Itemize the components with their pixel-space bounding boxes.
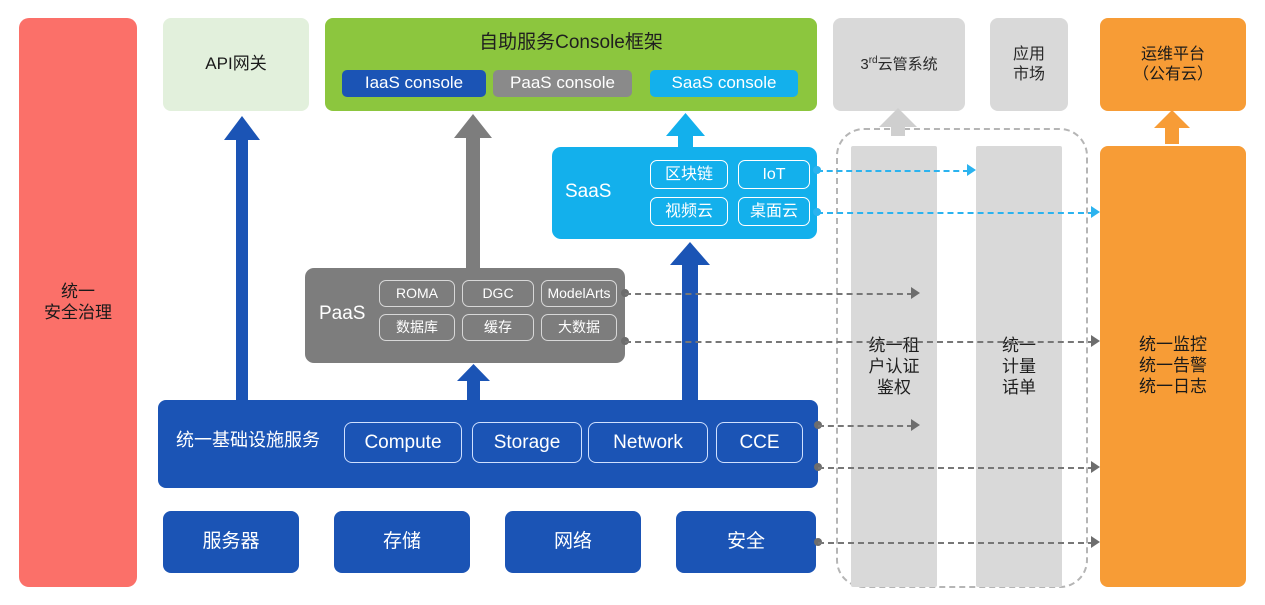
dashed-line-hardware-to-ops xyxy=(818,542,1094,544)
saas-pill-blockchain[interactable]: 区块链 xyxy=(650,160,728,189)
infra-pill-network[interactable]: Network xyxy=(588,422,708,463)
hardware-label-network: 网络 xyxy=(554,530,592,553)
hardware-label-server: 服务器 xyxy=(202,530,259,553)
security-governance-column: 统一 安全治理 xyxy=(19,18,137,587)
arrowhead-infra-to-ops xyxy=(1091,461,1100,473)
unified-tenant-auth-label: 统一租 户认证 鉴权 xyxy=(869,335,920,399)
arrow-infra-to-api-gateway xyxy=(224,116,260,401)
paas-pill-roma[interactable]: ROMA xyxy=(379,280,455,307)
arrow-saas-to-console xyxy=(666,113,705,149)
dashed-line-infra-to-ops xyxy=(818,467,1094,469)
api-gateway-box: API网关 xyxy=(163,18,309,111)
saas-pill-desktop-cloud[interactable]: 桌面云 xyxy=(738,197,810,226)
hardware-box-security: 安全 xyxy=(676,511,816,573)
dashed-line-infra-to-auth xyxy=(818,425,913,427)
arrowhead-paas-to-ops xyxy=(1091,335,1100,347)
arrowhead-saas-to-metering xyxy=(967,164,976,176)
third-party-superscript: rd xyxy=(869,55,878,66)
saas-box: SaaS 区块链 IoT 视频云 桌面云 xyxy=(552,147,817,239)
dashed-line-saas-to-ops xyxy=(817,212,1094,214)
paas-console-pill[interactable]: PaaS console xyxy=(493,70,632,97)
hardware-box-storage: 存储 xyxy=(334,511,470,573)
hardware-label-security: 安全 xyxy=(727,530,765,553)
dashed-line-paas-to-auth xyxy=(625,293,913,295)
arrowhead-saas-to-ops xyxy=(1091,206,1100,218)
dashed-line-paas-to-ops xyxy=(625,341,1094,343)
arrow-ops-column-to-ops-top xyxy=(1154,110,1190,144)
saas-pill-video-cloud[interactable]: 视频云 xyxy=(650,197,728,226)
arrow-infra-to-paas xyxy=(457,364,490,402)
console-framework-title: 自助服务Console框架 xyxy=(325,31,817,54)
saas-console-pill[interactable]: SaaS console xyxy=(650,70,798,97)
third-party-cloud-mgmt-box: 3rd云管系统 xyxy=(833,18,965,111)
arrow-infra-to-saas xyxy=(670,242,710,402)
paas-pill-database[interactable]: 数据库 xyxy=(379,314,455,341)
ops-platform-top-box: 运维平台 （公有云） xyxy=(1100,18,1246,111)
ops-platform-column-label: 统一监控 统一告警 统一日志 xyxy=(1139,335,1207,397)
hardware-box-network: 网络 xyxy=(505,511,641,573)
hardware-label-storage: 存储 xyxy=(383,530,421,553)
paas-label: PaaS xyxy=(319,302,365,325)
infra-pill-storage[interactable]: Storage xyxy=(472,422,582,463)
security-governance-label: 统一 安全治理 xyxy=(44,282,112,323)
ops-platform-top-label: 运维平台 （公有云） xyxy=(1133,45,1213,84)
hardware-box-server: 服务器 xyxy=(163,511,299,573)
saas-pill-iot[interactable]: IoT xyxy=(738,160,810,189)
iaas-console-pill[interactable]: IaaS console xyxy=(342,70,486,97)
paas-pill-dgc[interactable]: DGC xyxy=(462,280,534,307)
api-gateway-label: API网关 xyxy=(205,54,266,75)
arrowhead-hardware-to-ops xyxy=(1091,536,1100,548)
saas-label: SaaS xyxy=(565,180,611,203)
infrastructure-bar: 统一基础设施服务 Compute Storage Network CCE xyxy=(158,400,818,488)
app-market-label: 应用 市场 xyxy=(1013,45,1045,84)
infra-pill-compute[interactable]: Compute xyxy=(344,422,462,463)
paas-pill-modelarts[interactable]: ModelArts xyxy=(541,280,617,307)
infrastructure-label: 统一基础设施服务 xyxy=(176,430,320,452)
ops-platform-column: 统一监控 统一告警 统一日志 xyxy=(1100,146,1246,587)
dashed-line-saas-to-metering xyxy=(817,170,969,172)
arrowhead-infra-to-auth xyxy=(911,419,920,431)
arrowhead-paas-to-auth xyxy=(911,287,920,299)
console-framework-box: 自助服务Console框架 IaaS console PaaS console … xyxy=(325,18,817,111)
paas-box: PaaS ROMA DGC ModelArts 数据库 缓存 大数据 xyxy=(305,268,625,363)
architecture-diagram: 统一 安全治理 API网关 自助服务Console框架 IaaS console… xyxy=(0,0,1265,605)
unified-metering-label: 统一 计量 话单 xyxy=(1002,335,1036,399)
infra-pill-cce[interactable]: CCE xyxy=(716,422,803,463)
third-party-cloud-mgmt-label: 3rd云管系统 xyxy=(860,55,937,74)
arrow-paas-to-console xyxy=(454,114,492,269)
paas-pill-bigdata[interactable]: 大数据 xyxy=(541,314,617,341)
app-market-box: 应用 市场 xyxy=(990,18,1068,111)
paas-pill-cache[interactable]: 缓存 xyxy=(462,314,534,341)
